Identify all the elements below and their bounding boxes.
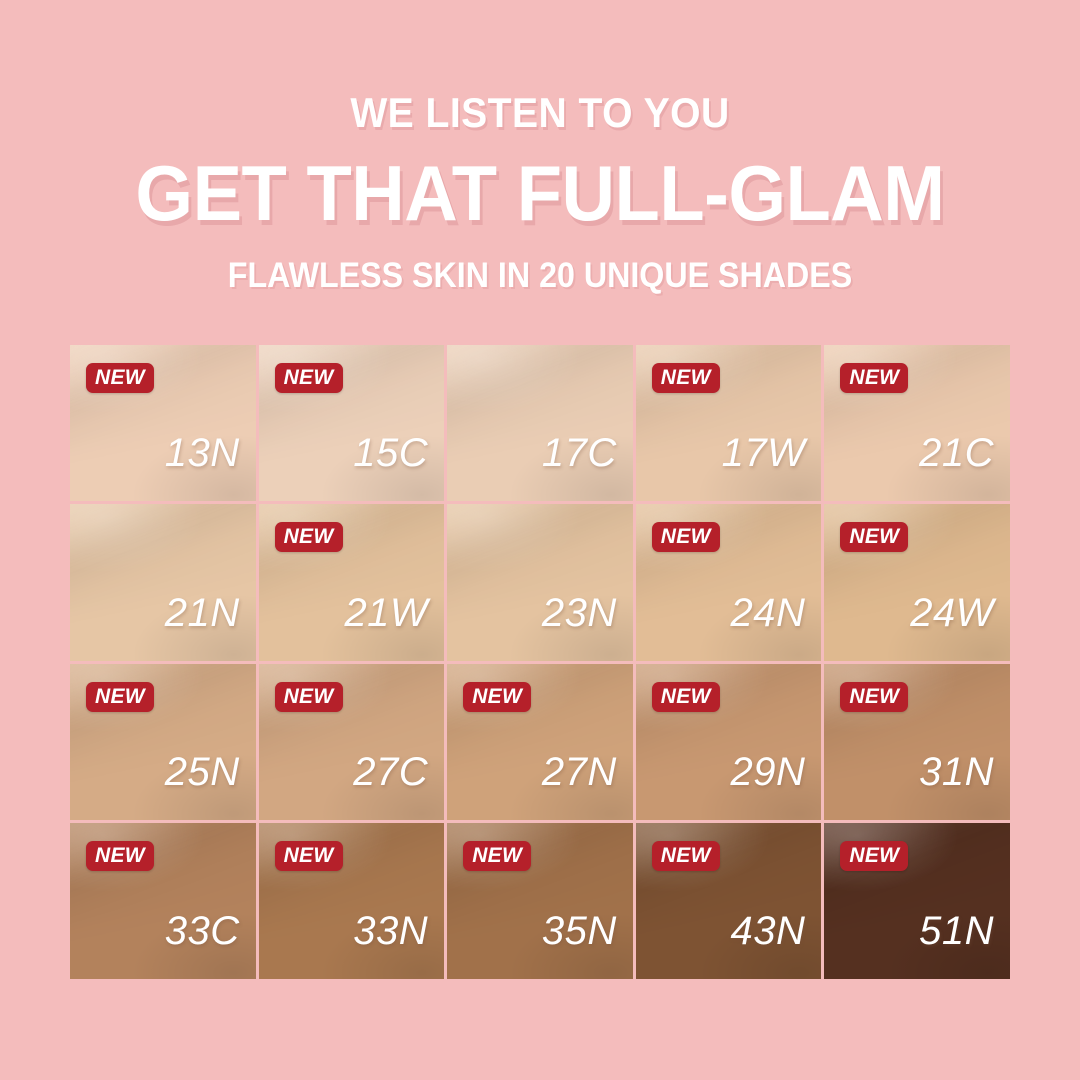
- shade-swatch[interactable]: NEW15C: [259, 345, 445, 501]
- shade-name-label: 25N: [165, 752, 240, 792]
- shade-name-label: 17W: [722, 433, 806, 473]
- shade-swatch[interactable]: NEW21C: [824, 345, 1010, 501]
- new-badge: NEW: [86, 363, 154, 393]
- page-title: GET THAT FULL-GLAM: [27, 154, 1053, 232]
- new-badge: NEW: [652, 363, 720, 393]
- shade-name-label: 23N: [542, 593, 617, 633]
- swatch-texture: [447, 345, 633, 501]
- shade-name-label: 33N: [353, 911, 428, 951]
- shade-swatch[interactable]: NEW33N: [259, 823, 445, 979]
- shade-swatch[interactable]: NEW21N: [70, 504, 256, 660]
- new-badge: NEW: [86, 841, 154, 871]
- shade-swatch[interactable]: NEW17C: [447, 345, 633, 501]
- shade-swatch[interactable]: NEW43N: [636, 823, 822, 979]
- new-badge: NEW: [86, 682, 154, 712]
- shade-swatch[interactable]: NEW51N: [824, 823, 1010, 979]
- shade-swatch[interactable]: NEW29N: [636, 664, 822, 820]
- new-badge: NEW: [463, 682, 531, 712]
- shade-name-label: 21C: [919, 433, 994, 473]
- new-badge: NEW: [275, 841, 343, 871]
- shade-swatch[interactable]: NEW21W: [259, 504, 445, 660]
- swatch-texture: [70, 504, 256, 660]
- shade-swatch[interactable]: NEW27C: [259, 664, 445, 820]
- new-badge: NEW: [275, 682, 343, 712]
- new-badge: NEW: [275, 522, 343, 552]
- shade-name-label: 21N: [165, 593, 240, 633]
- shade-name-label: 24N: [731, 593, 806, 633]
- shade-name-label: 27C: [353, 752, 428, 792]
- shade-name-label: 51N: [919, 911, 994, 951]
- shade-name-label: 21W: [344, 593, 428, 633]
- shade-swatch[interactable]: NEW27N: [447, 664, 633, 820]
- shade-name-label: 24W: [910, 593, 994, 633]
- shade-swatch[interactable]: NEW17W: [636, 345, 822, 501]
- new-badge: NEW: [840, 522, 908, 552]
- new-badge: NEW: [652, 682, 720, 712]
- shade-name-label: 43N: [731, 911, 806, 951]
- promo-header: WE LISTEN TO YOU GET THAT FULL-GLAM FLAW…: [0, 0, 1080, 293]
- new-badge: NEW: [840, 363, 908, 393]
- subtitle-text: FLAWLESS SKIN IN 20 UNIQUE SHADES: [43, 258, 1037, 293]
- new-badge: NEW: [840, 682, 908, 712]
- swatch-texture: [447, 504, 633, 660]
- shade-name-label: 27N: [542, 752, 617, 792]
- new-badge: NEW: [463, 841, 531, 871]
- shade-name-label: 13N: [165, 433, 240, 473]
- shade-name-label: 31N: [919, 752, 994, 792]
- shade-swatch[interactable]: NEW23N: [447, 504, 633, 660]
- shade-swatch[interactable]: NEW24W: [824, 504, 1010, 660]
- new-badge: NEW: [275, 363, 343, 393]
- shade-swatch[interactable]: NEW24N: [636, 504, 822, 660]
- shade-swatch[interactable]: NEW13N: [70, 345, 256, 501]
- shade-swatch[interactable]: NEW33C: [70, 823, 256, 979]
- shade-name-label: 35N: [542, 911, 617, 951]
- new-badge: NEW: [652, 522, 720, 552]
- shade-name-label: 17C: [542, 433, 617, 473]
- shade-name-label: 33C: [165, 911, 240, 951]
- shade-swatch[interactable]: NEW25N: [70, 664, 256, 820]
- eyebrow-text: WE LISTEN TO YOU: [38, 92, 1042, 134]
- shade-grid: NEW13NNEW15CNEW17CNEW17WNEW21CNEW21NNEW2…: [70, 345, 1010, 979]
- new-badge: NEW: [652, 841, 720, 871]
- shade-swatch[interactable]: NEW35N: [447, 823, 633, 979]
- shade-swatch[interactable]: NEW31N: [824, 664, 1010, 820]
- shade-name-label: 15C: [353, 433, 428, 473]
- new-badge: NEW: [840, 841, 908, 871]
- shade-name-label: 29N: [731, 752, 806, 792]
